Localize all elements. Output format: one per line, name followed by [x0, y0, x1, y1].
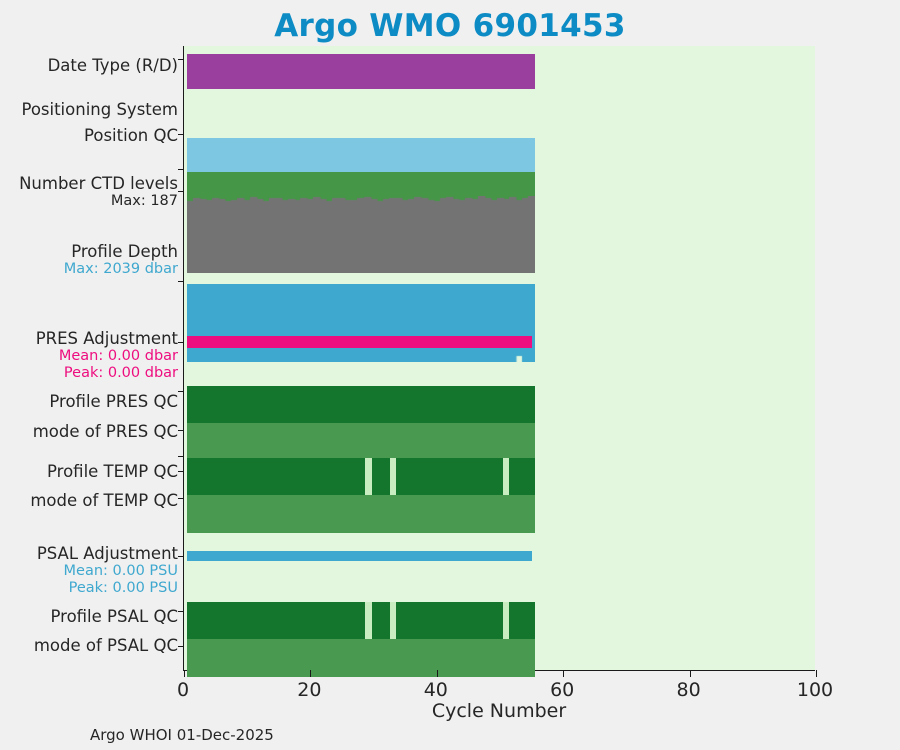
y-axis-label-text-positioning_system: Positioning System [0, 100, 178, 119]
y-axis-tick-11 [178, 556, 184, 557]
x-axis-title: Cycle Number [183, 700, 815, 722]
y-axis-tick-1 [178, 134, 184, 135]
series-gap-profile_temp_qc [365, 458, 371, 495]
x-axis-ticklabel-20: 20 [297, 679, 321, 701]
y-axis-label-positioning_system: Positioning System [0, 100, 178, 119]
y-axis-tick-6 [178, 391, 184, 392]
x-axis-tick-40 [437, 670, 438, 677]
y-axis-tick-2 [178, 169, 184, 170]
plot-area [183, 46, 815, 671]
series-bar-ctd_levels [187, 196, 535, 273]
series-bar-profile_pres_qc [187, 386, 535, 423]
series-bar-mode_psal_qc [187, 639, 535, 677]
x-axis-tick-80 [690, 670, 691, 677]
series-bar-profile_temp_qc [187, 458, 535, 495]
series-bar-profile_depth [187, 284, 535, 362]
page-title: Argo WMO 6901453 [0, 8, 900, 44]
footer-credit: Argo WHOI 01-Dec-2025 [90, 726, 274, 744]
y-axis-label-text-mode_temp_qc: mode of TEMP QC [0, 491, 178, 510]
y-axis-tick-13 [178, 646, 184, 647]
y-axis-label-text-profile_pres_qc: Profile PRES QC [0, 392, 178, 411]
x-axis-ticklabel-40: 40 [424, 679, 448, 701]
y-axis-label-text-date_type: Date Type (R/D) [0, 56, 178, 75]
y-axis-label-text-profile_temp_qc: Profile TEMP QC [0, 462, 178, 481]
y-axis-annotation-psal_adjustment-0: Mean: 0.00 PSU [0, 563, 178, 580]
y-axis-tick-9 [178, 471, 184, 472]
x-axis-tick-60 [563, 670, 564, 677]
x-axis-ticklabel-100: 100 [797, 679, 833, 701]
y-axis-label-pres_adjustment: PRES AdjustmentMean: 0.00 dbarPeak: 0.00… [0, 329, 178, 382]
series-gap-profile_temp_qc [390, 458, 396, 495]
y-axis-label-ctd_levels: Number CTD levelsMax: 187 [0, 174, 178, 210]
y-axis-annotation-ctd_levels-0: Max: 187 [0, 193, 178, 210]
x-axis-ticklabel-0: 0 [177, 679, 189, 701]
y-axis-annotation-pres_adjustment-1: Peak: 0.00 dbar [0, 365, 178, 382]
y-axis-tick-12 [178, 611, 184, 612]
series-gap-profile_psal_qc [390, 602, 396, 639]
y-axis-label-text-ctd_levels: Number CTD levels [0, 174, 178, 193]
x-axis-ticklabel-80: 80 [677, 679, 701, 701]
y-axis-label-text-profile_psal_qc: Profile PSAL QC [0, 607, 178, 626]
y-axis-label-text-mode_pres_qc: mode of PRES QC [0, 422, 178, 441]
y-axis-annotation-psal_adjustment-1: Peak: 0.00 PSU [0, 580, 178, 597]
y-axis-tick-4 [178, 281, 184, 282]
plot-series-container [184, 46, 815, 670]
y-axis-label-mode_psal_qc: mode of PSAL QC [0, 636, 178, 655]
series-bar-mode_temp_qc [187, 495, 535, 533]
series-bar-psal_adjustment [187, 551, 532, 561]
x-axis-ticklabel-60: 60 [550, 679, 574, 701]
y-axis-label-profile_depth: Profile DepthMax: 2039 dbar [0, 242, 178, 278]
y-axis-tick-3 [178, 191, 184, 192]
y-axis-label-profile_pres_qc: Profile PRES QC [0, 392, 178, 411]
series-gap-profile_temp_qc [503, 458, 509, 495]
y-axis-annotation-pres_adjustment-0: Mean: 0.00 dbar [0, 348, 178, 365]
x-axis-tick-0 [184, 670, 185, 677]
y-axis-tick-0 [178, 59, 184, 60]
y-axis-tick-7 [178, 430, 184, 431]
y-axis-label-text-position_qc: Position QC [0, 126, 178, 145]
y-axis-tick-10 [178, 498, 184, 499]
series-bar-mode_pres_qc [187, 423, 535, 461]
series-bar-pres_adjustment [187, 336, 532, 348]
series-bar-date_type [187, 54, 535, 89]
series-bar-profile_psal_qc [187, 602, 535, 639]
y-axis-label-text-psal_adjustment: PSAL Adjustment [0, 544, 178, 563]
y-axis-annotation-profile_depth-0: Max: 2039 dbar [0, 261, 178, 278]
y-axis-label-column: Date Type (R/D)Positioning SystemPositio… [0, 46, 178, 671]
y-axis-label-text-mode_psal_qc: mode of PSAL QC [0, 636, 178, 655]
series-bar-positioning_system [187, 138, 535, 172]
y-axis-label-profile_psal_qc: Profile PSAL QC [0, 607, 178, 626]
series-gap-profile_psal_qc [503, 602, 509, 639]
y-axis-label-mode_pres_qc: mode of PRES QC [0, 422, 178, 441]
y-axis-label-text-pres_adjustment: PRES Adjustment [0, 329, 178, 348]
y-axis-label-text-profile_depth: Profile Depth [0, 242, 178, 261]
y-axis-label-position_qc: Position QC [0, 126, 178, 145]
series-gap-profile_psal_qc [365, 602, 371, 639]
y-axis-tick-8 [178, 456, 184, 457]
y-axis-label-psal_adjustment: PSAL AdjustmentMean: 0.00 PSUPeak: 0.00 … [0, 544, 178, 597]
x-axis-tick-100 [816, 670, 817, 677]
y-axis-label-date_type: Date Type (R/D) [0, 56, 178, 75]
x-axis-tick-20 [310, 670, 311, 677]
y-axis-tick-5 [178, 342, 184, 343]
y-axis-label-profile_temp_qc: Profile TEMP QC [0, 462, 178, 481]
y-axis-label-mode_temp_qc: mode of TEMP QC [0, 491, 178, 510]
